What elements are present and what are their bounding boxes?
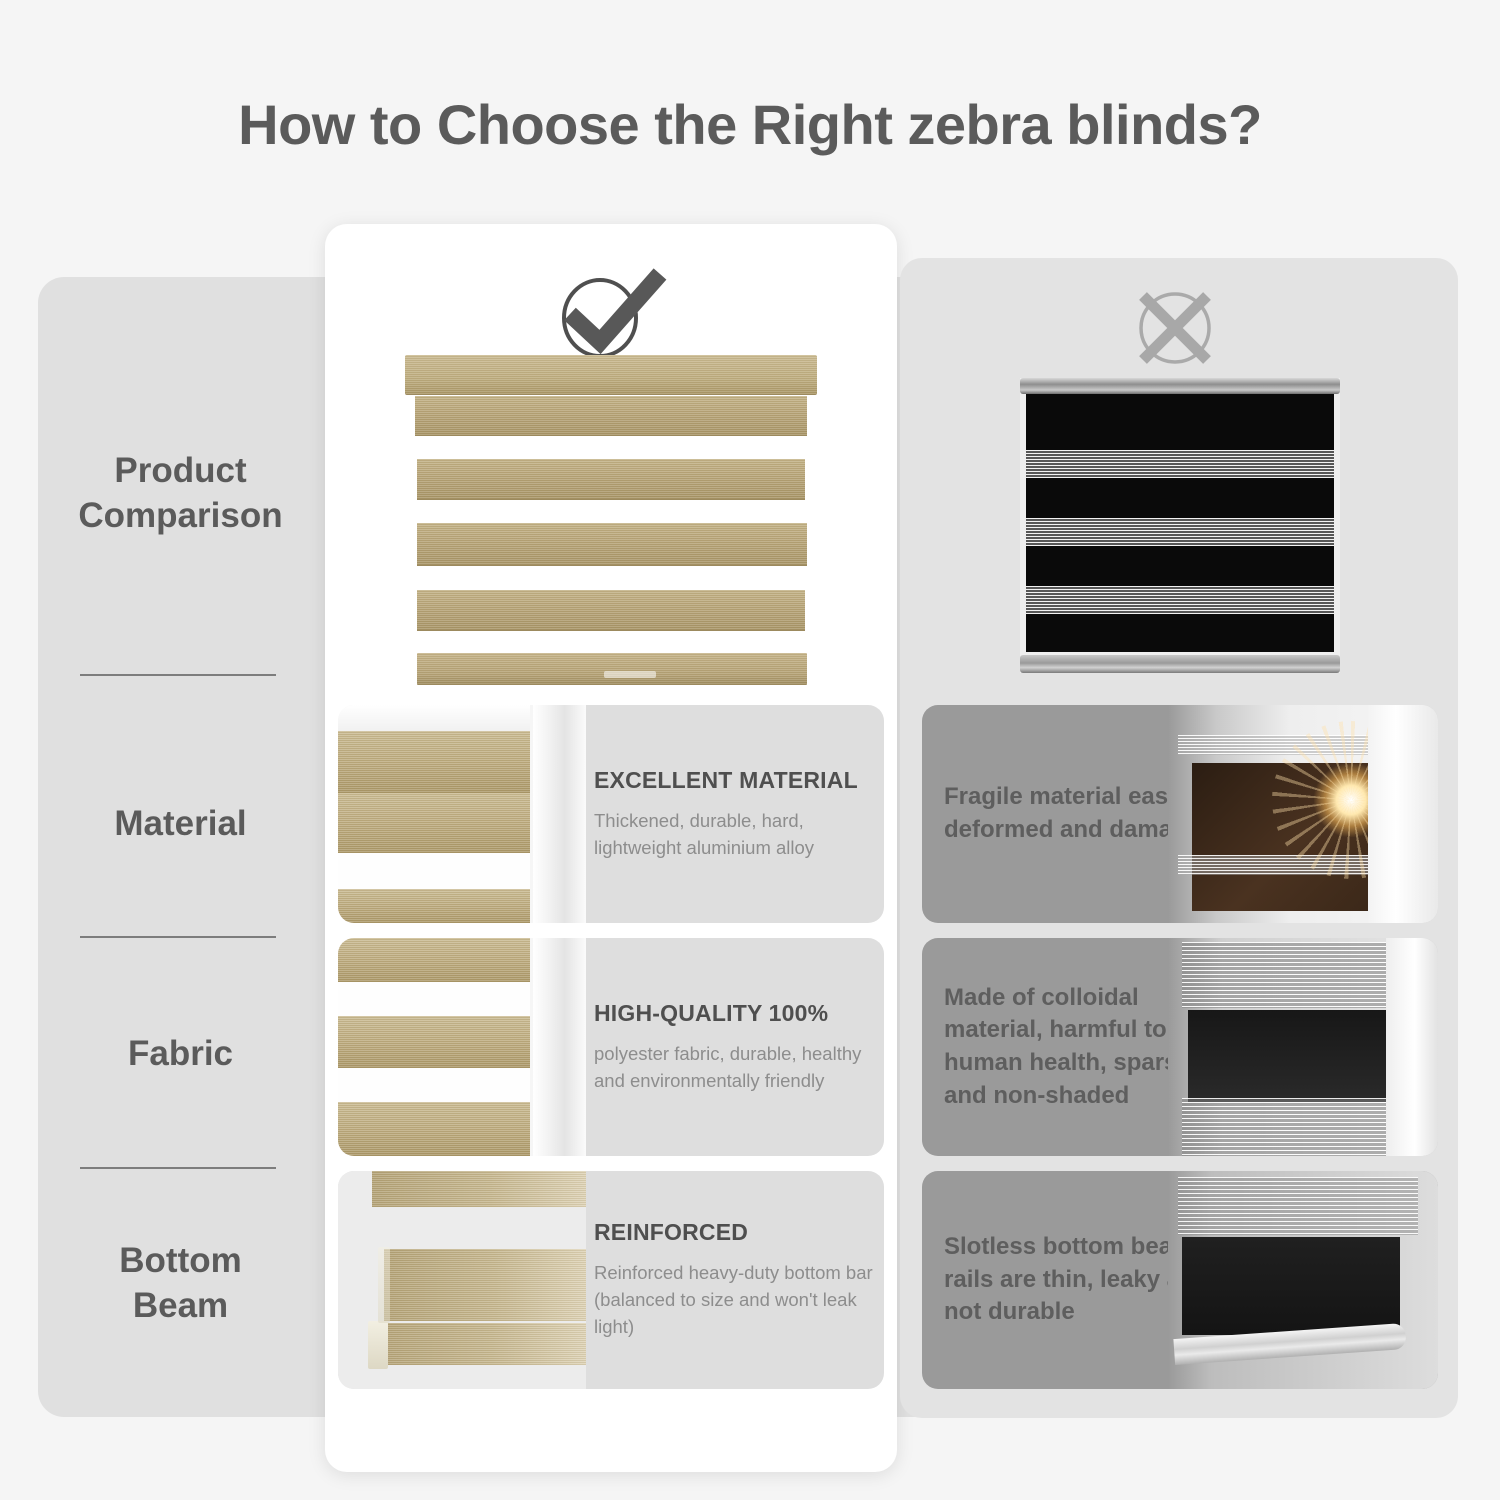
bad-feature-card-fabric: Made of colloidal material, harmful to h… bbox=[922, 938, 1438, 1156]
good-feature-image-bottom-beam bbox=[338, 1171, 586, 1389]
row-label-line2: Beam bbox=[38, 1284, 323, 1329]
good-feature-heading: HIGH-QUALITY 100% bbox=[594, 1000, 874, 1027]
good-feature-image-fabric bbox=[338, 938, 586, 1156]
row-label-product-comparison: Product Comparison bbox=[38, 449, 323, 539]
row-divider bbox=[80, 1167, 276, 1169]
row-label-line2: Comparison bbox=[38, 494, 323, 539]
good-hero-blind-image bbox=[405, 355, 817, 700]
row-divider bbox=[80, 936, 276, 938]
blind-fabric bbox=[1026, 394, 1334, 652]
row-label-line1: Bottom bbox=[38, 1239, 323, 1284]
blind-headrail bbox=[1020, 378, 1340, 394]
infographic-page: How to Choose the Right zebra blinds? Pr… bbox=[0, 0, 1500, 1500]
good-feature-body: polyester fabric, durable, healthy and e… bbox=[594, 1041, 874, 1095]
good-feature-body: Reinforced heavy-duty bottom bar (balanc… bbox=[594, 1260, 874, 1340]
row-label-column: Product Comparison Material Fabric Botto… bbox=[38, 277, 323, 1417]
bad-feature-card-material: Fragile material easily deformed and dam… bbox=[922, 705, 1438, 923]
row-label-fabric: Fabric bbox=[38, 1032, 323, 1077]
blind-bottom-bar bbox=[417, 653, 807, 685]
bad-feature-card-bottom-beam: Slotless bottom beam rails are thin, lea… bbox=[922, 1171, 1438, 1389]
good-feature-text-material: EXCELLENT MATERIAL Thickened, durable, h… bbox=[594, 705, 884, 923]
good-feature-card-material: EXCELLENT MATERIAL Thickened, durable, h… bbox=[338, 705, 884, 923]
row-label-bottom-beam: Bottom Beam bbox=[38, 1239, 323, 1329]
row-divider bbox=[80, 674, 276, 676]
good-feature-card-fabric: HIGH-QUALITY 100% polyester fabric, dura… bbox=[338, 938, 884, 1156]
blind-sheer-band bbox=[1026, 586, 1334, 614]
good-feature-heading: EXCELLENT MATERIAL bbox=[594, 767, 874, 794]
bad-hero-blind-image bbox=[1020, 378, 1340, 673]
blind-bottom-rail bbox=[1020, 655, 1340, 673]
blind-slat bbox=[417, 590, 805, 631]
bad-feature-image-bottom-beam bbox=[1168, 1171, 1438, 1389]
blind-sheer-band bbox=[1026, 450, 1334, 478]
blind-slat bbox=[415, 396, 807, 436]
good-feature-body: Thickened, durable, hard, lightweight al… bbox=[594, 808, 874, 862]
good-feature-text-fabric: HIGH-QUALITY 100% polyester fabric, dura… bbox=[594, 938, 884, 1156]
blind-slat bbox=[417, 523, 807, 566]
row-label-line1: Product bbox=[38, 449, 323, 494]
bad-feature-image-material bbox=[1168, 705, 1438, 923]
blind-slat bbox=[417, 459, 805, 500]
good-feature-heading: REINFORCED bbox=[594, 1219, 874, 1246]
blind-headrail bbox=[405, 355, 817, 395]
bad-feature-image-fabric bbox=[1168, 938, 1438, 1156]
check-circle-icon bbox=[548, 266, 676, 362]
good-feature-text-bottom-beam: REINFORCED Reinforced heavy-duty bottom … bbox=[594, 1171, 884, 1389]
page-title: How to Choose the Right zebra blinds? bbox=[0, 92, 1500, 157]
good-feature-image-material bbox=[338, 705, 586, 923]
row-label-material: Material bbox=[38, 802, 323, 847]
blind-sheer-band bbox=[1026, 518, 1334, 546]
x-circle-icon bbox=[1130, 284, 1220, 372]
good-feature-card-bottom-beam: REINFORCED Reinforced heavy-duty bottom … bbox=[338, 1171, 884, 1389]
